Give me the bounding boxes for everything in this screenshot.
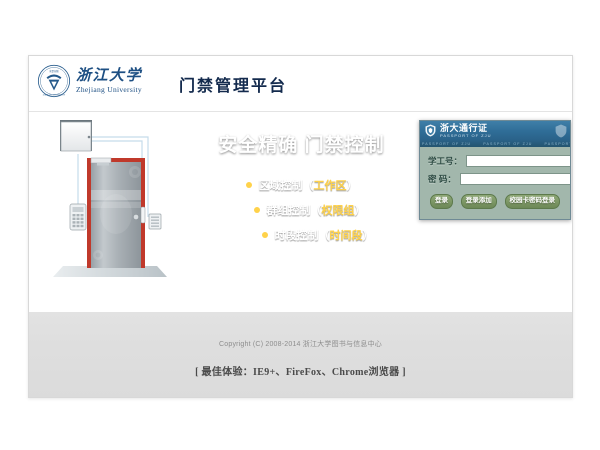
feature-text: 群组控制（ xyxy=(267,205,322,217)
shield-icon xyxy=(425,124,436,137)
svg-text:ZHEJIANG UNIVERSITY: ZHEJIANG UNIVERSITY xyxy=(43,93,66,96)
zju-emblem-icon: 求是创新 ZHEJIANG UNIVERSITY xyxy=(37,64,71,98)
feature-tail: ） xyxy=(347,180,358,192)
site-footer: Copyright (C) 2008-2014 浙江大学图书与信息中心 [ 最佳… xyxy=(29,312,572,398)
user-id-input[interactable] xyxy=(466,155,571,167)
site-header: 求是创新 ZHEJIANG UNIVERSITY 浙江大学 Zhejiang U… xyxy=(29,56,572,112)
feature-highlight: 时间段 xyxy=(330,230,363,242)
feature-tail: ） xyxy=(363,230,374,242)
login-form: 学工号： 密 码： 登录 登录添加 校园卡密码登录 xyxy=(420,147,570,209)
campus-card-login-button[interactable]: 校园卡密码登录 xyxy=(505,194,561,209)
password-label: 密 码： xyxy=(428,173,460,185)
ticker-text: PASSPORT OF ZJU xyxy=(545,142,571,146)
login-field-row: 学工号： xyxy=(428,155,562,167)
access-control-door-illustration xyxy=(45,114,195,299)
passport-title-en: PASSPORT OF ZJU xyxy=(440,134,491,138)
login-button-group: 登录 登录添加 校园卡密码登录 xyxy=(428,191,562,209)
bullet-dot-icon xyxy=(254,207,260,213)
hero-banner: 安全精确 门禁控制 区域控制（工作区） 群组控制（权限组） 时段控制（时间段） xyxy=(29,112,572,312)
copyright-text: Copyright (C) 2008-2014 浙江大学图书与信息中心 xyxy=(29,312,572,349)
ticker-text: PASSPORT OF ZJU xyxy=(422,142,483,146)
login-add-button[interactable]: 登录添加 xyxy=(461,194,497,209)
login-button[interactable]: 登录 xyxy=(430,194,453,209)
shield-watermark-icon xyxy=(555,124,567,138)
ticker-text: PASSPORT OF ZJU xyxy=(483,142,544,146)
password-input[interactable] xyxy=(460,173,571,185)
page-frame: 求是创新 ZHEJIANG UNIVERSITY 浙江大学 Zhejiang U… xyxy=(28,55,573,398)
feature-text: 时段控制（ xyxy=(275,230,330,242)
login-ticker-strip: PASSPORT OF ZJU PASSPORT OF ZJU PASSPORT… xyxy=(420,140,570,147)
user-id-label: 学工号： xyxy=(428,155,466,167)
logo-text-cn: 浙江大学 xyxy=(76,69,142,84)
zju-logo[interactable]: 求是创新 ZHEJIANG UNIVERSITY 浙江大学 Zhejiang U… xyxy=(37,64,142,98)
bullet-dot-icon xyxy=(246,182,252,188)
banner-feature-list: 区域控制（工作区） 群组控制（权限组） 时段控制（时间段） xyxy=(189,177,414,243)
banner-feature-item: 区域控制（工作区） xyxy=(189,177,414,193)
feature-highlight: 权限组 xyxy=(322,205,355,217)
feature-tail: ） xyxy=(355,205,366,217)
browser-recommendation-text: [ 最佳体验：IE9+、FireFox、Chrome浏览器 ] xyxy=(29,363,572,378)
banner-feature-item: 时段控制（时间段） xyxy=(189,227,414,243)
banner-feature-item: 群组控制（权限组） xyxy=(189,202,414,218)
bullet-dot-icon xyxy=(262,232,268,238)
svg-text:求是创新: 求是创新 xyxy=(49,69,59,73)
logo-text-en: Zhejiang University xyxy=(76,86,142,94)
passport-title-cn: 浙大通行证 xyxy=(440,124,491,133)
login-field-row: 密 码： xyxy=(428,173,562,185)
feature-text: 区域控制（ xyxy=(259,180,314,192)
login-panel: 浙大通行证 PASSPORT OF ZJU PASSPORT OF ZJU PA… xyxy=(419,120,571,220)
page-title: 门禁管理平台 xyxy=(179,72,287,96)
banner-headline: 安全精确 门禁控制 xyxy=(189,130,414,157)
login-panel-header: 浙大通行证 PASSPORT OF ZJU xyxy=(420,121,570,140)
feature-highlight: 工作区 xyxy=(314,180,347,192)
passport-titles: 浙大通行证 PASSPORT OF ZJU xyxy=(440,124,491,138)
logo-wordmark: 浙江大学 Zhejiang University xyxy=(76,69,142,94)
banner-copy: 安全精确 门禁控制 区域控制（工作区） 群组控制（权限组） 时段控制（时间段） xyxy=(189,130,414,254)
